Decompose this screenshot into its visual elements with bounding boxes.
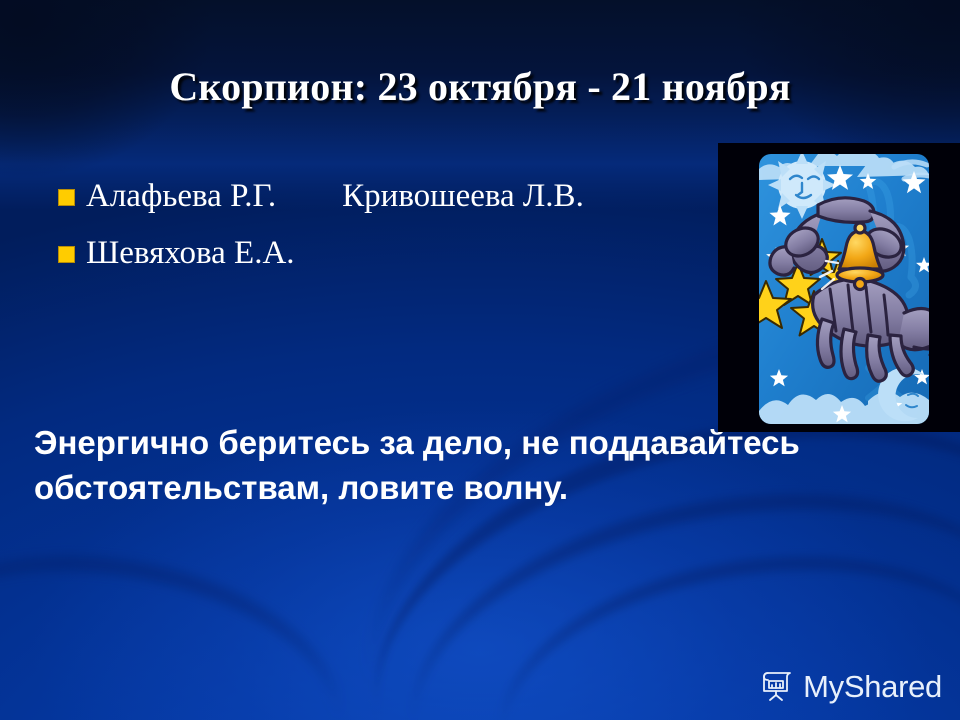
horoscope-text: Энергично беритесь за дело, не поддавайт… [34, 420, 894, 510]
myshared-logo-text: MyShared [803, 671, 942, 702]
scorpio-illustration [718, 143, 960, 432]
square-bullet-icon [58, 189, 75, 206]
name-list: Алафьева Р.Г. Кривошеева Л.В. Шевяхова Е… [58, 176, 758, 290]
myshared-logo[interactable]: MyShared [760, 670, 942, 702]
slide: Скорпион: 23 октября - 21 ноября Алафьев… [0, 0, 960, 720]
square-bullet-icon [58, 246, 75, 263]
list-item: Шевяхова Е.А. [58, 233, 758, 290]
list-item-label: Алафьева Р.Г. Кривошеева Л.В. [86, 176, 584, 216]
flipchart-chart-icon [760, 670, 794, 702]
slide-title: Скорпион: 23 октября - 21 ноября [0, 63, 960, 111]
list-item: Алафьева Р.Г. Кривошеева Л.В. [58, 176, 758, 233]
list-item-label: Шевяхова Е.А. [86, 233, 295, 273]
zodiac-scorpio-image [718, 143, 960, 432]
